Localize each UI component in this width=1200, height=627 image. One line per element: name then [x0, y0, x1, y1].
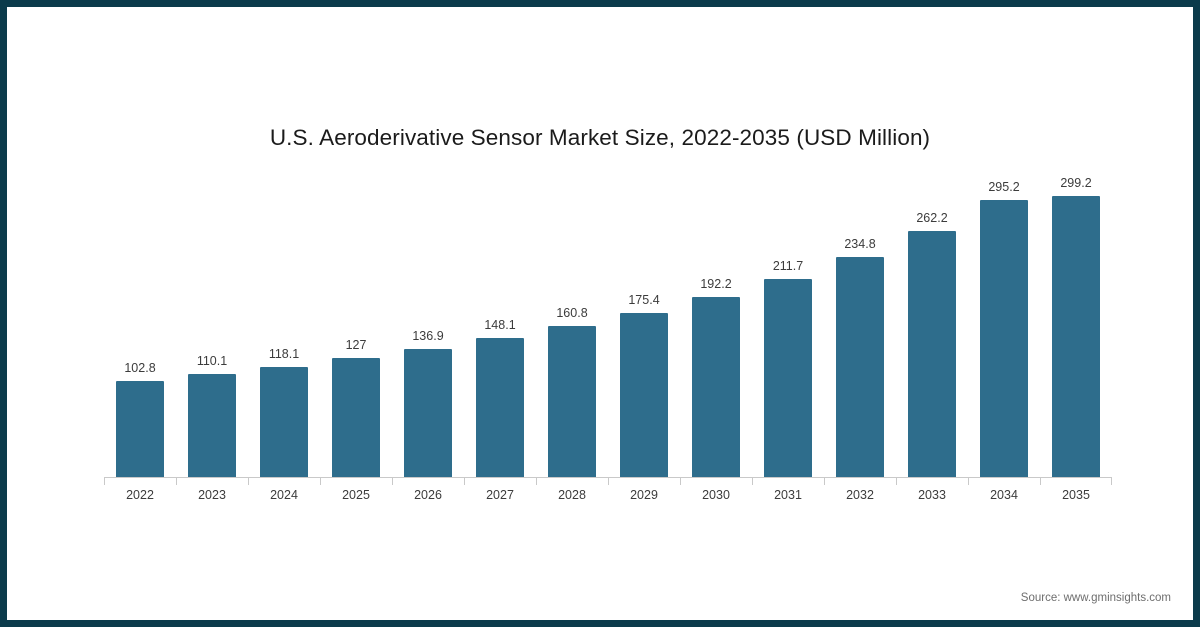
x-axis-tick — [680, 478, 752, 485]
bar-rect[interactable] — [764, 279, 812, 479]
bar-rect[interactable] — [332, 358, 380, 478]
x-axis-label: 2035 — [1040, 488, 1112, 502]
x-axis-tick — [1040, 478, 1112, 485]
bar-value-label: 102.8 — [104, 361, 176, 375]
bar-rect[interactable] — [692, 297, 740, 478]
plot-area: 102.8110.1118.1127136.9148.1160.8175.419… — [104, 167, 1112, 478]
bar-group[interactable]: 118.1 — [248, 167, 320, 478]
x-axis-tick-end — [1111, 478, 1112, 485]
bar-value-label: 262.2 — [896, 211, 968, 225]
bar-group[interactable]: 136.9 — [392, 167, 464, 478]
x-axis-label: 2030 — [680, 488, 752, 502]
bar-rect[interactable] — [1052, 196, 1100, 478]
bar-rect[interactable] — [980, 200, 1028, 478]
x-axis-label: 2025 — [320, 488, 392, 502]
bar-group[interactable]: 262.2 — [896, 167, 968, 478]
x-axis-label: 2033 — [896, 488, 968, 502]
bar-group[interactable]: 234.8 — [824, 167, 896, 478]
chart-title: U.S. Aeroderivative Sensor Market Size, … — [7, 125, 1193, 151]
bar-rect[interactable] — [836, 257, 884, 478]
bar-group[interactable]: 110.1 — [176, 167, 248, 478]
bar-group[interactable]: 175.4 — [608, 167, 680, 478]
x-axis-label: 2022 — [104, 488, 176, 502]
bar-value-label: 234.8 — [824, 237, 896, 251]
x-axis-tick — [104, 478, 176, 485]
x-axis-ticks — [104, 478, 1112, 485]
x-axis-tick — [248, 478, 320, 485]
bar-value-label: 295.2 — [968, 180, 1040, 194]
x-axis-tick — [752, 478, 824, 485]
bar-group[interactable]: 211.7 — [752, 167, 824, 478]
bar-group[interactable]: 295.2 — [968, 167, 1040, 478]
bar-series: 102.8110.1118.1127136.9148.1160.8175.419… — [104, 167, 1112, 478]
x-axis-labels: 2022202320242025202620272028202920302031… — [104, 488, 1112, 502]
x-axis-label: 2032 — [824, 488, 896, 502]
x-axis-tick — [896, 478, 968, 485]
source-attribution: Source: www.gminsights.com — [1021, 592, 1171, 604]
x-axis-label: 2023 — [176, 488, 248, 502]
x-axis-label: 2026 — [392, 488, 464, 502]
bar-value-label: 160.8 — [536, 306, 608, 320]
bar-group[interactable]: 160.8 — [536, 167, 608, 478]
x-axis-label: 2029 — [608, 488, 680, 502]
x-axis-tick — [536, 478, 608, 485]
bar-group[interactable]: 102.8 — [104, 167, 176, 478]
x-axis-tick — [824, 478, 896, 485]
bar-value-label: 175.4 — [608, 293, 680, 307]
bar-rect[interactable] — [620, 313, 668, 478]
bar-group[interactable]: 299.2 — [1040, 167, 1112, 478]
bar-value-label: 127 — [320, 338, 392, 352]
bar-value-label: 299.2 — [1040, 176, 1112, 190]
x-axis-label: 2027 — [464, 488, 536, 502]
bar-value-label: 192.2 — [680, 277, 752, 291]
bar-rect[interactable] — [476, 338, 524, 478]
bar-value-label: 136.9 — [392, 329, 464, 343]
bar-value-label: 148.1 — [464, 318, 536, 332]
chart-figure: U.S. Aeroderivative Sensor Market Size, … — [0, 0, 1200, 627]
bar-rect[interactable] — [116, 381, 164, 478]
bar-rect[interactable] — [260, 367, 308, 478]
x-axis-tick — [176, 478, 248, 485]
x-axis-tick — [392, 478, 464, 485]
bar-group[interactable]: 192.2 — [680, 167, 752, 478]
bar-value-label: 211.7 — [752, 259, 824, 273]
x-axis-label: 2031 — [752, 488, 824, 502]
bar-value-label: 118.1 — [248, 347, 320, 361]
x-axis-label: 2024 — [248, 488, 320, 502]
bar-rect[interactable] — [404, 349, 452, 478]
x-axis-tick — [968, 478, 1040, 485]
bar-rect[interactable] — [548, 326, 596, 478]
bar-rect[interactable] — [188, 374, 236, 478]
x-axis-tick — [608, 478, 680, 485]
bar-group[interactable]: 148.1 — [464, 167, 536, 478]
x-axis-label: 2034 — [968, 488, 1040, 502]
x-axis-tick — [320, 478, 392, 485]
x-axis-tick — [464, 478, 536, 485]
x-axis-label: 2028 — [536, 488, 608, 502]
bar-group[interactable]: 127 — [320, 167, 392, 478]
bar-rect[interactable] — [908, 231, 956, 478]
bar-value-label: 110.1 — [176, 354, 248, 368]
